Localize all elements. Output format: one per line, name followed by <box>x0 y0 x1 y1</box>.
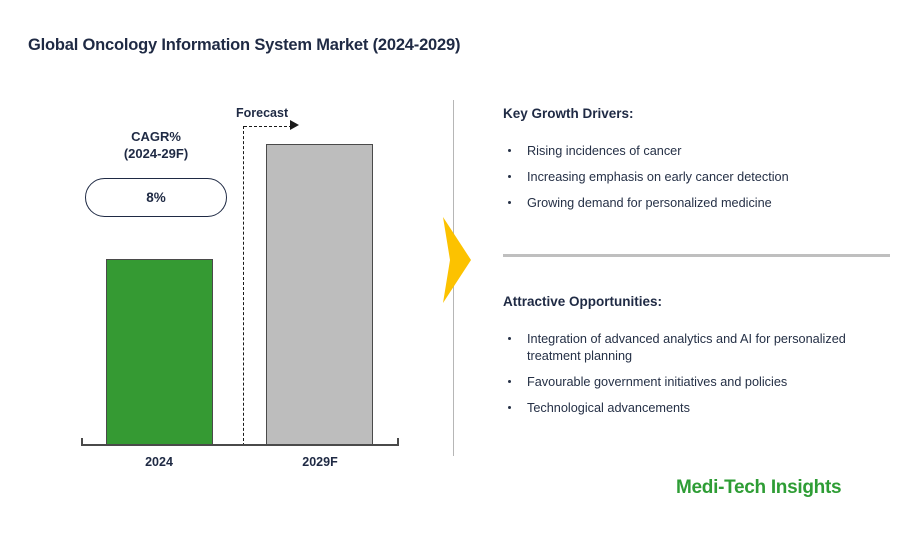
list-item: Integration of advanced analytics and AI… <box>503 331 895 365</box>
opportunities-heading: Attractive Opportunities: <box>503 294 895 309</box>
cagr-label: CAGR% (2024-29F) <box>85 128 227 162</box>
cagr-title: CAGR% <box>85 128 227 145</box>
bar-2029f <box>266 144 373 445</box>
cagr-value: 8% <box>146 190 166 205</box>
bullet-icon <box>508 380 511 383</box>
cagr-badge: 8% <box>85 178 227 217</box>
list-item: Increasing emphasis on early cancer dete… <box>503 169 893 186</box>
list-item: Favourable government initiatives and po… <box>503 374 895 391</box>
bullet-icon <box>508 406 511 409</box>
list-item-text: Rising incidences of cancer <box>527 144 681 158</box>
list-item: Growing demand for personalized medicine <box>503 195 893 212</box>
forecast-dashed-divider <box>243 126 244 446</box>
section-divider <box>503 254 890 257</box>
opportunities-list: Integration of advanced analytics and AI… <box>503 331 895 417</box>
list-item-text: Increasing emphasis on early cancer dete… <box>527 170 789 184</box>
drivers-list: Rising incidences of cancer Increasing e… <box>503 143 893 212</box>
axis-cap-left <box>81 438 83 445</box>
key-growth-drivers-section: Key Growth Drivers: Rising incidences of… <box>503 106 893 221</box>
list-item-text: Growing demand for personalized medicine <box>527 196 772 210</box>
axis-baseline <box>81 444 399 446</box>
cagr-period: (2024-29F) <box>85 145 227 162</box>
bullet-icon <box>508 201 511 204</box>
list-item-text: Technological advancements <box>527 401 690 415</box>
bar-chart: CAGR% (2024-29F) 8% Forecast 2024 2029F <box>0 0 440 553</box>
brand-logo: Medi-Tech Insights <box>676 477 841 499</box>
bullet-icon <box>508 149 511 152</box>
list-item: Rising incidences of cancer <box>503 143 893 160</box>
axis-tick-label-2029f: 2029F <box>260 455 380 469</box>
bar-2024 <box>106 259 213 445</box>
chevron-right-icon <box>441 217 471 303</box>
forecast-dashed-connector <box>244 126 292 127</box>
infographic-page: Global Oncology Information System Marke… <box>0 0 912 553</box>
bullet-icon <box>508 337 511 340</box>
bullet-icon <box>508 175 511 178</box>
forecast-arrow-icon <box>290 120 299 130</box>
axis-tick-label-2024: 2024 <box>99 455 219 469</box>
drivers-heading: Key Growth Drivers: <box>503 106 893 121</box>
forecast-label: Forecast <box>236 106 288 120</box>
list-item: Technological advancements <box>503 400 895 417</box>
list-item-text: Integration of advanced analytics and AI… <box>527 332 846 363</box>
attractive-opportunities-section: Attractive Opportunities: Integration of… <box>503 294 895 426</box>
axis-cap-right <box>397 438 399 445</box>
list-item-text: Favourable government initiatives and po… <box>527 375 787 389</box>
